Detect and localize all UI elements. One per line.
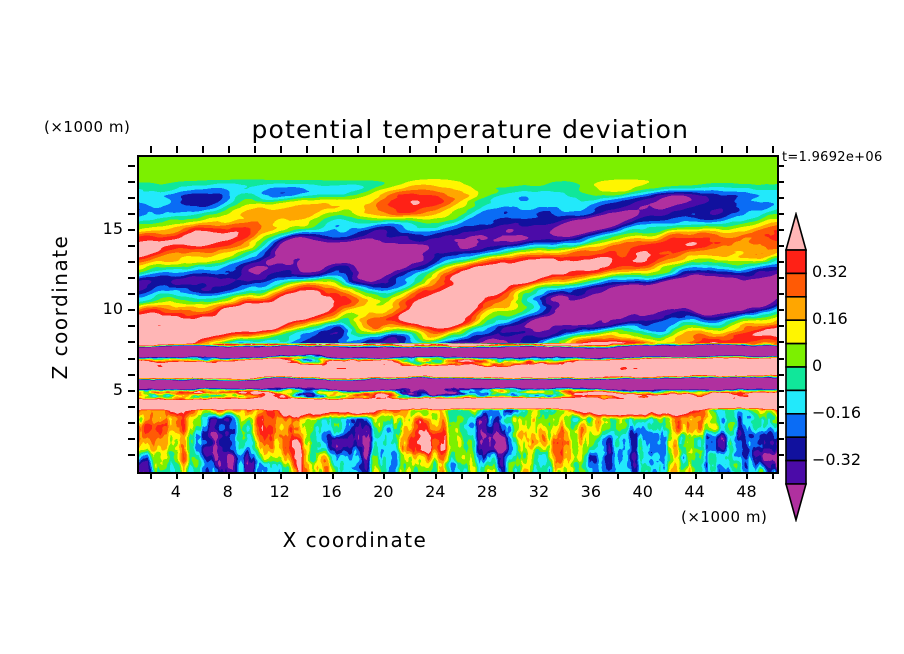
axis-tick	[128, 358, 135, 360]
axis-tick	[777, 181, 784, 183]
colorbar-band	[786, 390, 806, 413]
axis-tick	[746, 146, 748, 153]
axis-tick	[772, 472, 774, 479]
axis-tick	[128, 197, 135, 199]
x-tick-label: 16	[312, 482, 352, 501]
axis-tick	[591, 472, 593, 479]
colorbar-swatches	[783, 212, 809, 522]
axis-tick	[643, 146, 645, 153]
axis-tick	[565, 146, 567, 153]
colorbar-band	[786, 344, 806, 367]
colorbar-band	[786, 320, 806, 343]
axis-tick	[746, 472, 748, 479]
axis-tick	[617, 472, 619, 479]
timestamp-annotation: t=1.9692e+06	[782, 150, 883, 165]
axis-tick	[695, 146, 697, 153]
axis-tick	[643, 472, 645, 479]
axis-tick	[669, 146, 671, 153]
x-tick-label: 8	[208, 482, 248, 501]
axis-tick	[513, 472, 515, 479]
axis-tick	[617, 146, 619, 153]
axis-tick	[280, 472, 282, 479]
contour-plot-area	[137, 155, 779, 474]
y-tick-label: 10	[83, 299, 123, 318]
axis-tick	[128, 181, 135, 183]
axis-tick	[539, 472, 541, 479]
axis-tick	[128, 229, 135, 231]
colorbar-over-arrow	[786, 214, 806, 250]
axis-tick	[357, 146, 359, 153]
colorbar-band	[786, 273, 806, 296]
axis-tick	[772, 146, 774, 153]
axis-tick	[128, 374, 135, 376]
colorbar-band	[786, 414, 806, 437]
axis-tick	[461, 146, 463, 153]
colorbar-tick-label: −0.32	[812, 450, 861, 469]
axis-tick	[128, 438, 135, 440]
y-tick-label: 15	[83, 219, 123, 238]
axis-tick	[228, 146, 230, 153]
colorbar-tick-label: 0.16	[812, 309, 848, 328]
axis-tick	[128, 325, 135, 327]
axis-tick	[150, 146, 152, 153]
axis-tick	[128, 309, 135, 311]
axis-tick	[128, 422, 135, 424]
axis-tick	[128, 406, 135, 408]
x-tick-label: 48	[726, 482, 766, 501]
x-tick-label: 12	[260, 482, 300, 501]
contour-field	[139, 157, 777, 472]
axis-tick	[487, 146, 489, 153]
axis-tick	[409, 472, 411, 479]
axis-tick	[539, 146, 541, 153]
axis-tick	[128, 277, 135, 279]
axis-tick	[128, 165, 135, 167]
x-tick-label: 4	[156, 482, 196, 501]
x-axis-title: X coordinate	[0, 528, 710, 552]
axis-tick	[254, 146, 256, 153]
axis-tick	[332, 472, 334, 479]
axis-tick	[565, 472, 567, 479]
axis-tick	[128, 293, 135, 295]
colorbar-tick-label: 0	[812, 356, 822, 375]
colorbar-tick-label: −0.16	[812, 403, 861, 422]
colorbar-band	[786, 250, 806, 273]
axis-tick	[254, 472, 256, 479]
axis-tick	[383, 146, 385, 153]
colorbar-band	[786, 297, 806, 320]
axis-tick	[128, 245, 135, 247]
axis-tick	[128, 341, 135, 343]
axis-tick	[128, 261, 135, 263]
y-tick-label: 5	[83, 380, 123, 399]
axis-tick	[777, 165, 784, 167]
axis-tick	[280, 146, 282, 153]
axis-tick	[591, 146, 593, 153]
x-tick-label: 44	[675, 482, 715, 501]
axis-tick	[150, 472, 152, 479]
x-tick-label: 32	[519, 482, 559, 501]
axis-tick	[461, 472, 463, 479]
axis-tick	[306, 472, 308, 479]
axis-tick	[383, 472, 385, 479]
axis-tick	[306, 146, 308, 153]
x-tick-label: 40	[623, 482, 663, 501]
x-tick-label: 36	[571, 482, 611, 501]
axis-tick	[228, 472, 230, 479]
x-tick-label: 24	[415, 482, 455, 501]
colorbar-band	[786, 461, 806, 484]
x-axis-unit-label: (×1000 m)	[681, 508, 767, 526]
axis-tick	[128, 454, 135, 456]
colorbar-under-arrow	[786, 484, 806, 520]
axis-tick	[202, 146, 204, 153]
x-tick-label: 20	[363, 482, 403, 501]
axis-tick	[409, 146, 411, 153]
axis-tick	[332, 146, 334, 153]
axis-tick	[721, 146, 723, 153]
axis-tick	[176, 472, 178, 479]
axis-tick	[435, 146, 437, 153]
colorbar-band	[786, 437, 806, 460]
x-tick-label: 28	[467, 482, 507, 501]
y-axis-unit-label: (×1000 m)	[44, 118, 130, 136]
axis-tick	[128, 390, 135, 392]
axis-tick	[176, 146, 178, 153]
colorbar-tick-label: 0.32	[812, 262, 848, 281]
y-axis-title: Z coordinate	[48, 207, 72, 407]
axis-tick	[777, 197, 784, 199]
axis-tick	[669, 472, 671, 479]
axis-tick	[128, 213, 135, 215]
page-title-text: potential temperature deviation	[251, 115, 689, 144]
axis-tick	[435, 472, 437, 479]
axis-tick	[513, 146, 515, 153]
axis-tick	[357, 472, 359, 479]
colorbar	[783, 212, 809, 522]
axis-tick	[487, 472, 489, 479]
colorbar-band	[786, 367, 806, 390]
axis-tick	[202, 472, 204, 479]
axis-tick	[695, 472, 697, 479]
axis-tick	[721, 472, 723, 479]
